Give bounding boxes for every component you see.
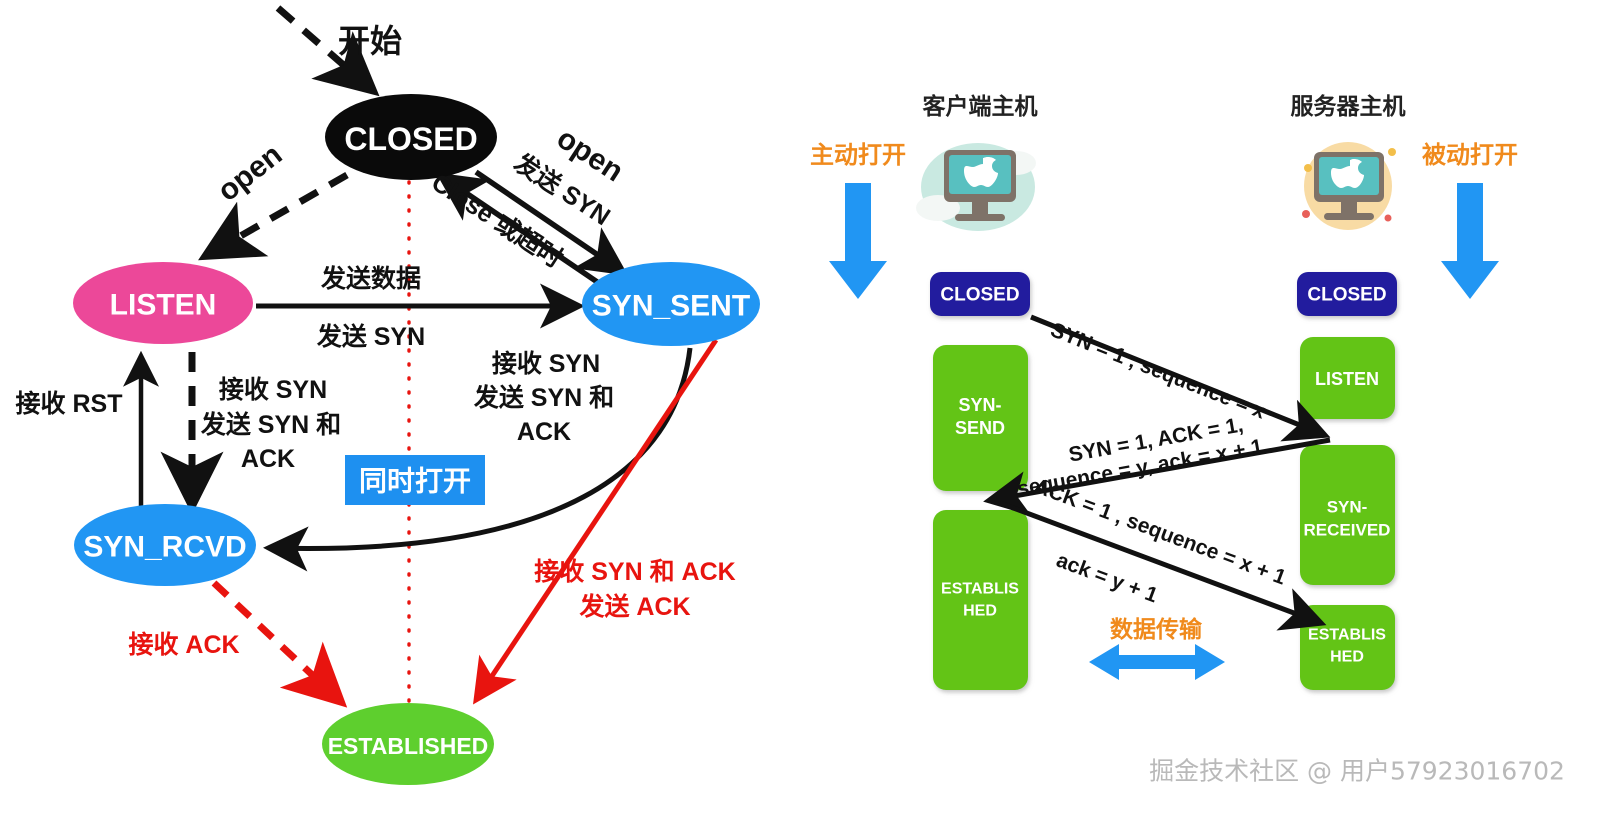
edge-label-recv-rst: 接收 RST (16, 390, 123, 418)
state-box-server-syn-received-label-line2: RECEIVED (1304, 521, 1391, 540)
state-node-listen[interactable]: LISTEN (73, 262, 253, 344)
diagram-canvas: CLOSED LISTEN SYN_SENT SYN_RCVD ESTABLIS… (0, 0, 1622, 822)
state-node-syn-sent[interactable]: SYN_SENT (582, 262, 760, 346)
state-box-client-established[interactable]: ESTABLIS HED (933, 510, 1028, 690)
state-node-listen-label: LISTEN (110, 289, 217, 322)
state-box-server-listen[interactable]: LISTEN (1300, 337, 1395, 419)
imac-sun-icon (1302, 142, 1396, 230)
diagram-root: CLOSED LISTEN SYN_SENT SYN_RCVD ESTABLIS… (0, 0, 1622, 822)
state-box-server-syn-received[interactable]: SYN- RECEIVED (1300, 445, 1395, 585)
state-box-server-established[interactable]: ESTABLIS HED (1300, 605, 1395, 690)
state-node-established[interactable]: ESTABLISHED (322, 703, 494, 785)
state-node-closed[interactable]: CLOSED (325, 94, 497, 180)
edge-label-send-syn-and-right: 发送 SYN 和 (473, 383, 614, 412)
server-open-label: 被动打开 (1422, 141, 1518, 169)
client-host-title: 客户端主机 (923, 93, 1038, 120)
edge-label-recv-syn-ack: 接收 SYN 和 ACK (534, 558, 735, 586)
simultaneous-open-tag-label: 同时打开 (359, 466, 471, 497)
edge-label-recv-syn-right: 接收 SYN (492, 350, 600, 378)
client-open-label: 主动打开 (810, 141, 906, 169)
state-box-server-listen-label: LISTEN (1315, 369, 1379, 389)
watermark: 掘金技术社区 @ 用户57923016702 (1149, 757, 1565, 786)
state-box-server-closed[interactable]: CLOSED (1297, 272, 1397, 316)
edge-label-ack-left: ACK (241, 445, 295, 473)
edge-label-send-ack: 发送 ACK (578, 592, 690, 621)
state-box-client-syn-send-label-line2: SEND (955, 418, 1005, 438)
data-transfer-label: 数据传输 (1110, 616, 1203, 643)
server-host-title: 服务器主机 (1291, 94, 1406, 120)
state-node-established-label: ESTABLISHED (328, 733, 489, 759)
edge-label-open-left: open (212, 138, 289, 208)
imac-cloud-icon (916, 143, 1036, 231)
simultaneous-open-tag: 同时打开 (345, 455, 485, 505)
server-passive-open-arrow (1441, 183, 1499, 299)
state-box-client-established-label-line1: ESTABLIS (941, 581, 1019, 598)
state-node-syn-rcvd[interactable]: SYN_RCVD (74, 504, 256, 586)
state-box-client-closed-label: CLOSED (940, 285, 1019, 306)
state-box-client-closed[interactable]: CLOSED (930, 272, 1030, 316)
edge-label-recv-ack: 接收 ACK (128, 631, 239, 659)
state-box-client-syn-send-label-line1: SYN- (958, 395, 1001, 415)
client-active-open-arrow (829, 183, 887, 299)
edge-syn_sent-to-syn_rcvd (272, 348, 690, 549)
state-box-client-syn-send[interactable]: SYN- SEND (933, 345, 1028, 491)
state-box-server-closed-label: CLOSED (1307, 285, 1386, 306)
state-node-closed-label: CLOSED (344, 121, 477, 157)
data-transfer-arrow (1089, 644, 1225, 680)
edge-label-ack-right: ACK (517, 418, 571, 446)
state-node-syn-sent-label: SYN_SENT (592, 290, 750, 323)
edge-label-recv-syn-left: 接收 SYN (219, 376, 327, 404)
state-box-server-syn-received-label-line1: SYN- (1327, 498, 1368, 517)
handshake-msg1-label: SYN = 1 , sequence = x (1047, 318, 1269, 423)
state-box-server-established-label-line1: ESTABLIS (1308, 627, 1386, 644)
state-box-server-established-label-line2: HED (1330, 649, 1364, 666)
state-box-client-established-label-line2: HED (963, 603, 997, 620)
edge-label-start: 开始 (338, 23, 402, 59)
edge-label-send-syn-mid: 发送 SYN (316, 322, 425, 351)
edge-label-send-data: 发送数据 (320, 264, 421, 293)
state-node-syn-rcvd-label: SYN_RCVD (83, 531, 246, 564)
edge-label-send-syn-and-left: 发送 SYN 和 (200, 410, 341, 439)
